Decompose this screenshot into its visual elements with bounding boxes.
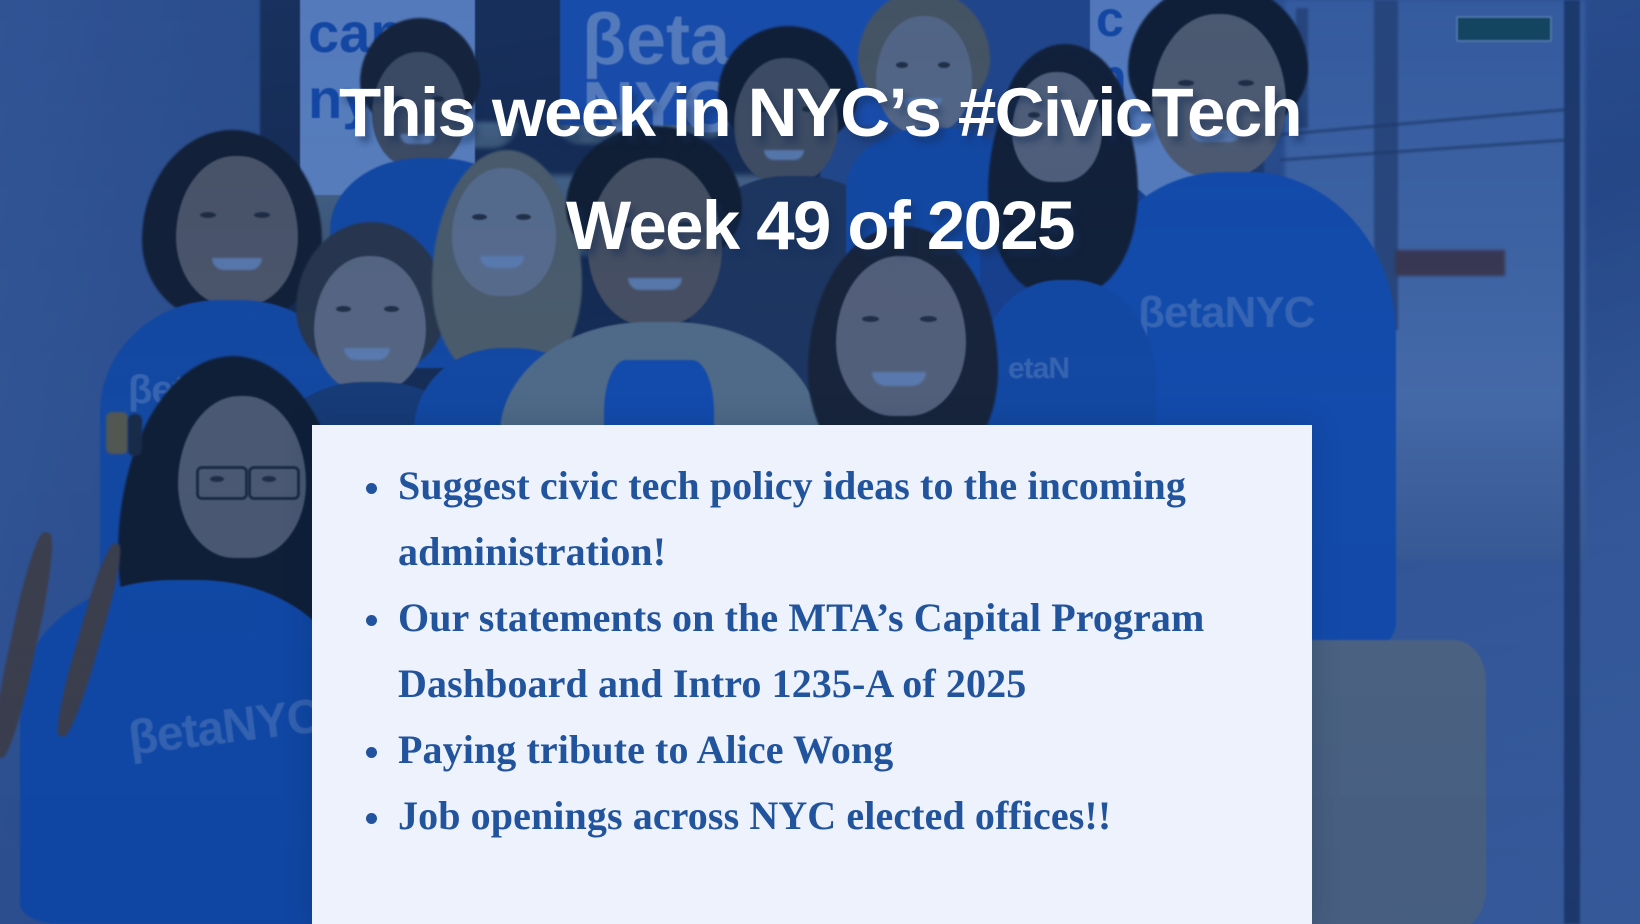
highlights-card: Suggest civic tech policy ideas to the i…	[312, 425, 1312, 924]
highlights-list: Suggest civic tech policy ideas to the i…	[354, 453, 1270, 849]
list-item: Suggest civic tech policy ideas to the i…	[354, 453, 1270, 585]
list-item: Job openings across NYC elected offices!…	[354, 783, 1270, 849]
list-item: Our statements on the MTA’s Capital Prog…	[354, 585, 1270, 717]
list-item: Paying tribute to Alice Wong	[354, 717, 1270, 783]
social-graphic: camp nyc βeta NYC c n MORE AT WWW	[0, 0, 1640, 924]
